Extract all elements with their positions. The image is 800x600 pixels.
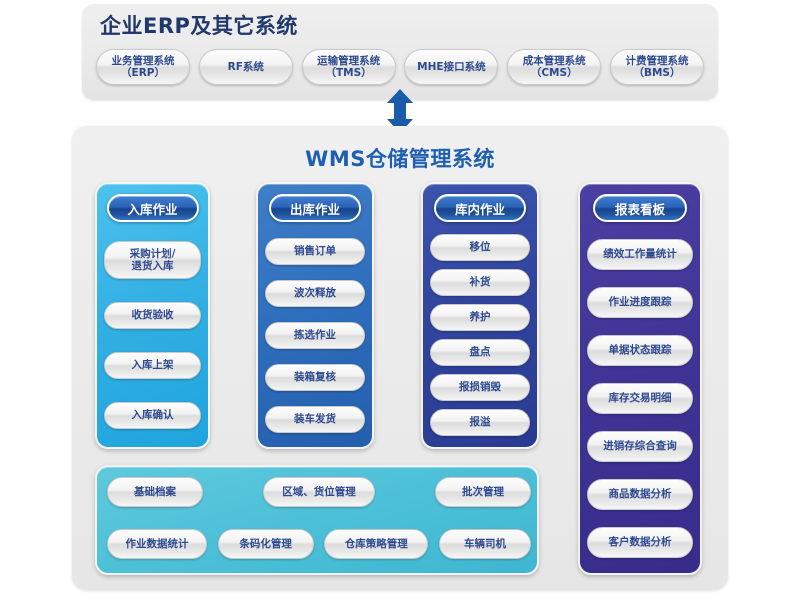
item-wave-release[interactable]: 波次释放 [265,280,365,307]
erp-system-list: 业务管理系统 （ERP） RF系统 运输管理系统 （TMS） MHE接口系统 成… [96,49,704,85]
item-replenishment[interactable]: 补货 [430,269,530,296]
item-purchase-plan-return-inbound[interactable]: 采购计划/ 退货入库 [104,241,201,279]
item-purchase-sales-inventory-query[interactable]: 进销存综合查询 [587,431,693,462]
column-outbound: 出库作业 销售订单 波次释放 拣选作业 装箱复核 装车发货 [256,182,374,449]
item-batch-management[interactable]: 批次管理 [435,477,531,507]
erp-system-transport-management[interactable]: 运输管理系统 （TMS） [302,49,396,85]
column-head-outbound[interactable]: 出库作业 [269,194,361,222]
erp-system-mhe-interface[interactable]: MHE接口系统 [404,49,498,85]
column-internal: 库内作业 移位 补货 养护 盘点 报损销毁 报溢 [421,182,539,449]
column-head-report[interactable]: 报表看板 [593,194,687,222]
item-task-progress-tracking[interactable]: 作业进度跟踪 [587,287,693,318]
item-damage-destruction[interactable]: 报损销毁 [430,374,530,401]
erp-system-rf[interactable]: RF系统 [199,49,293,85]
item-sales-order[interactable]: 销售订单 [265,238,365,265]
base-data-panel: 基础档案 区域、货位管理 批次管理 作业数据统计 条码化管理 仓库策略管理 车辆… [95,465,539,575]
erp-panel-title: 企业ERP及其它系统 [100,10,298,40]
item-receiving-inspection[interactable]: 收货验收 [104,302,201,329]
item-document-status-tracking[interactable]: 单据状态跟踪 [587,335,693,366]
erp-system-cost-management[interactable]: 成本管理系统 （CMS） [507,49,601,85]
column-items-internal: 移位 补货 养护 盘点 报损销毁 报溢 [430,230,530,440]
item-overage[interactable]: 报溢 [430,409,530,436]
item-relocation[interactable]: 移位 [430,234,530,261]
item-zone-location-management[interactable]: 区域、货位管理 [263,477,375,507]
item-stocktaking[interactable]: 盘点 [430,339,530,366]
item-loading-shipment[interactable]: 装车发货 [265,406,365,433]
erp-system-billing-management[interactable]: 计费管理系统 （BMS） [610,49,704,85]
wms-panel-title: WMS仓储管理系统 [72,143,728,173]
wms-architecture-diagram: 企业ERP及其它系统 业务管理系统 （ERP） RF系统 运输管理系统 （TMS… [0,0,800,600]
item-product-data-analysis[interactable]: 商品数据分析 [587,479,693,510]
column-head-inbound[interactable]: 入库作业 [107,194,199,222]
column-report: 报表看板 绩效工作量统计 作业进度跟踪 单据状态跟踪 库存交易明细 进销存综合查… [578,182,702,575]
item-basic-archives[interactable]: 基础档案 [107,477,203,507]
item-inbound-confirm[interactable]: 入库确认 [104,402,201,429]
item-vehicle-driver[interactable]: 车辆司机 [439,529,531,559]
item-picking[interactable]: 拣选作业 [265,322,365,349]
column-head-internal[interactable]: 库内作业 [434,194,526,222]
item-packing-review[interactable]: 装箱复核 [265,364,365,391]
column-items-report: 绩效工作量统计 作业进度跟踪 单据状态跟踪 库存交易明细 进销存综合查询 商品数… [587,230,693,566]
column-inbound: 入库作业 采购计划/ 退货入库 收货验收 入库上架 入库确认 [95,182,210,449]
item-putaway[interactable]: 入库上架 [104,352,201,379]
erp-system-business-management[interactable]: 业务管理系统 （ERP） [96,49,190,85]
base-row-bottom: 作业数据统计 条码化管理 仓库策略管理 车辆司机 [107,529,531,559]
item-warehouse-strategy-management[interactable]: 仓库策略管理 [324,529,428,559]
item-operation-data-stats[interactable]: 作业数据统计 [107,529,207,559]
column-items-inbound: 采购计划/ 退货入库 收货验收 入库上架 入库确认 [104,230,201,440]
item-customer-data-analysis[interactable]: 客户数据分析 [587,527,693,558]
item-inventory-transaction-detail[interactable]: 库存交易明细 [587,383,693,414]
base-row-top: 基础档案 区域、货位管理 批次管理 [107,477,531,507]
column-items-outbound: 销售订单 波次释放 拣选作业 装箱复核 装车发货 [265,230,365,440]
item-maintenance[interactable]: 养护 [430,304,530,331]
item-barcode-management[interactable]: 条码化管理 [218,529,314,559]
item-performance-workload-stats[interactable]: 绩效工作量统计 [587,239,693,270]
erp-panel: 企业ERP及其它系统 业务管理系统 （ERP） RF系统 运输管理系统 （TMS… [82,4,718,100]
